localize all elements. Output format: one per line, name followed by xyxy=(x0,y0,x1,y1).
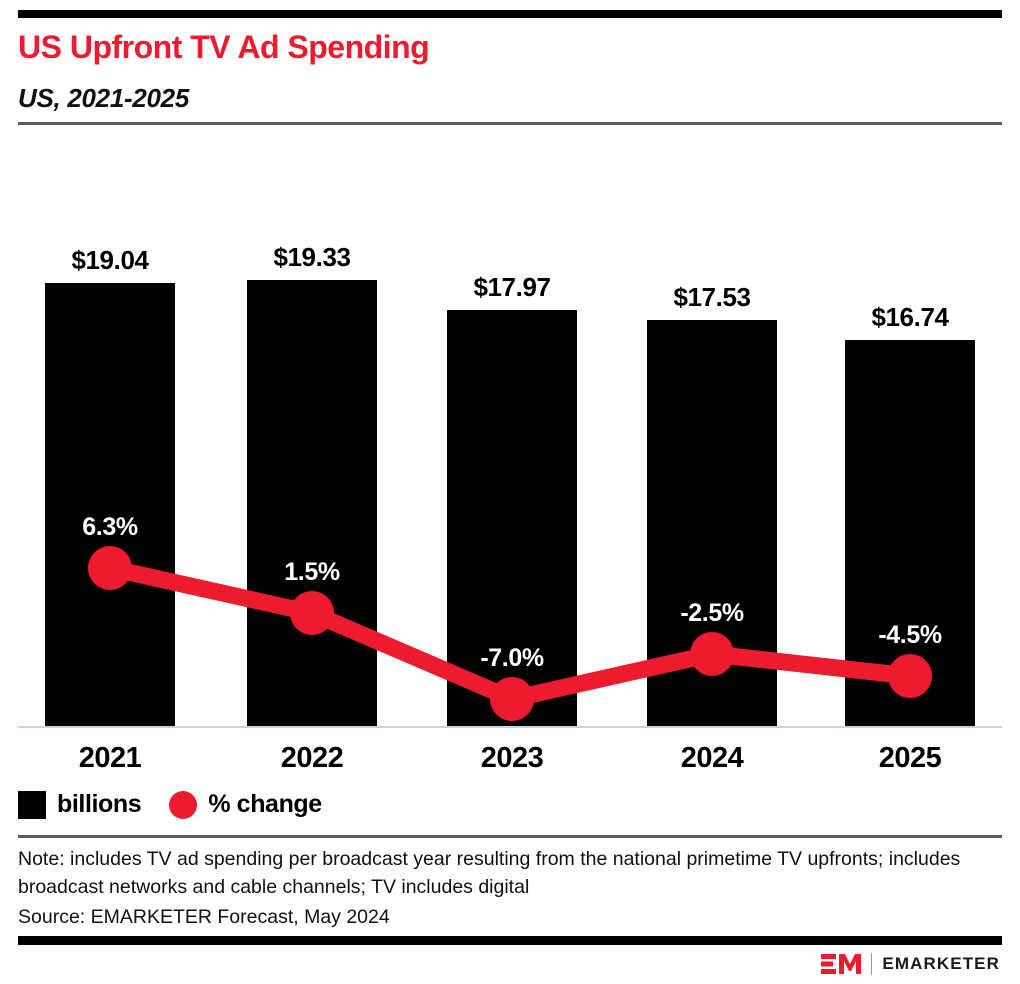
red-circle-icon xyxy=(169,791,197,819)
black-square-icon xyxy=(18,791,46,819)
pct-label-2025: -4.5% xyxy=(845,621,975,650)
pct-label-2022: 1.5% xyxy=(247,558,377,587)
pct-marker-2025 xyxy=(888,654,932,698)
chart-plot-area: $19.04 $19.33 $17.97 $17.53 $16.74 6.3% … xyxy=(0,140,1020,740)
footer-divider xyxy=(18,835,1002,838)
brand-name: EMARKETER xyxy=(882,954,1000,974)
header-divider xyxy=(18,122,1002,125)
top-rule xyxy=(18,10,1002,18)
page-title: US Upfront TV Ad Spending xyxy=(18,28,978,66)
x-axis-label-2024: 2024 xyxy=(647,742,777,775)
pct-marker-2023 xyxy=(490,677,534,721)
chart-source: Source: EMARKETER Forecast, May 2024 xyxy=(18,903,993,931)
legend-item-billions[interactable]: billions xyxy=(18,790,141,819)
brand-divider xyxy=(871,953,872,975)
bottom-rule xyxy=(18,936,1002,945)
legend-item-pct-change[interactable]: % change xyxy=(169,790,322,819)
legend-label-billions: billions xyxy=(57,790,141,819)
pct-label-2021: 6.3% xyxy=(45,513,175,542)
pct-label-2024: -2.5% xyxy=(647,599,777,628)
legend-label-pct-change: % change xyxy=(208,790,322,819)
x-axis-label-2023: 2023 xyxy=(447,742,577,775)
pct-marker-2021 xyxy=(88,546,132,590)
page-subtitle: US, 2021-2025 xyxy=(18,82,978,114)
chart-page: US Upfront TV Ad Spending US, 2021-2025 … xyxy=(0,0,1020,984)
pct-marker-2022 xyxy=(290,591,334,635)
brand-lockup: EMARKETER xyxy=(821,952,1000,976)
emarketer-logo-icon xyxy=(821,952,861,976)
chart-legend: billions % change xyxy=(18,790,322,819)
pct-marker-2024 xyxy=(690,632,734,676)
pct-label-2023: -7.0% xyxy=(447,644,577,673)
chart-note: Note: includes TV ad spending per broadc… xyxy=(18,845,993,901)
x-axis-label-2025: 2025 xyxy=(845,742,975,775)
x-axis-label-2022: 2022 xyxy=(247,742,377,775)
x-axis-label-2021: 2021 xyxy=(45,742,175,775)
